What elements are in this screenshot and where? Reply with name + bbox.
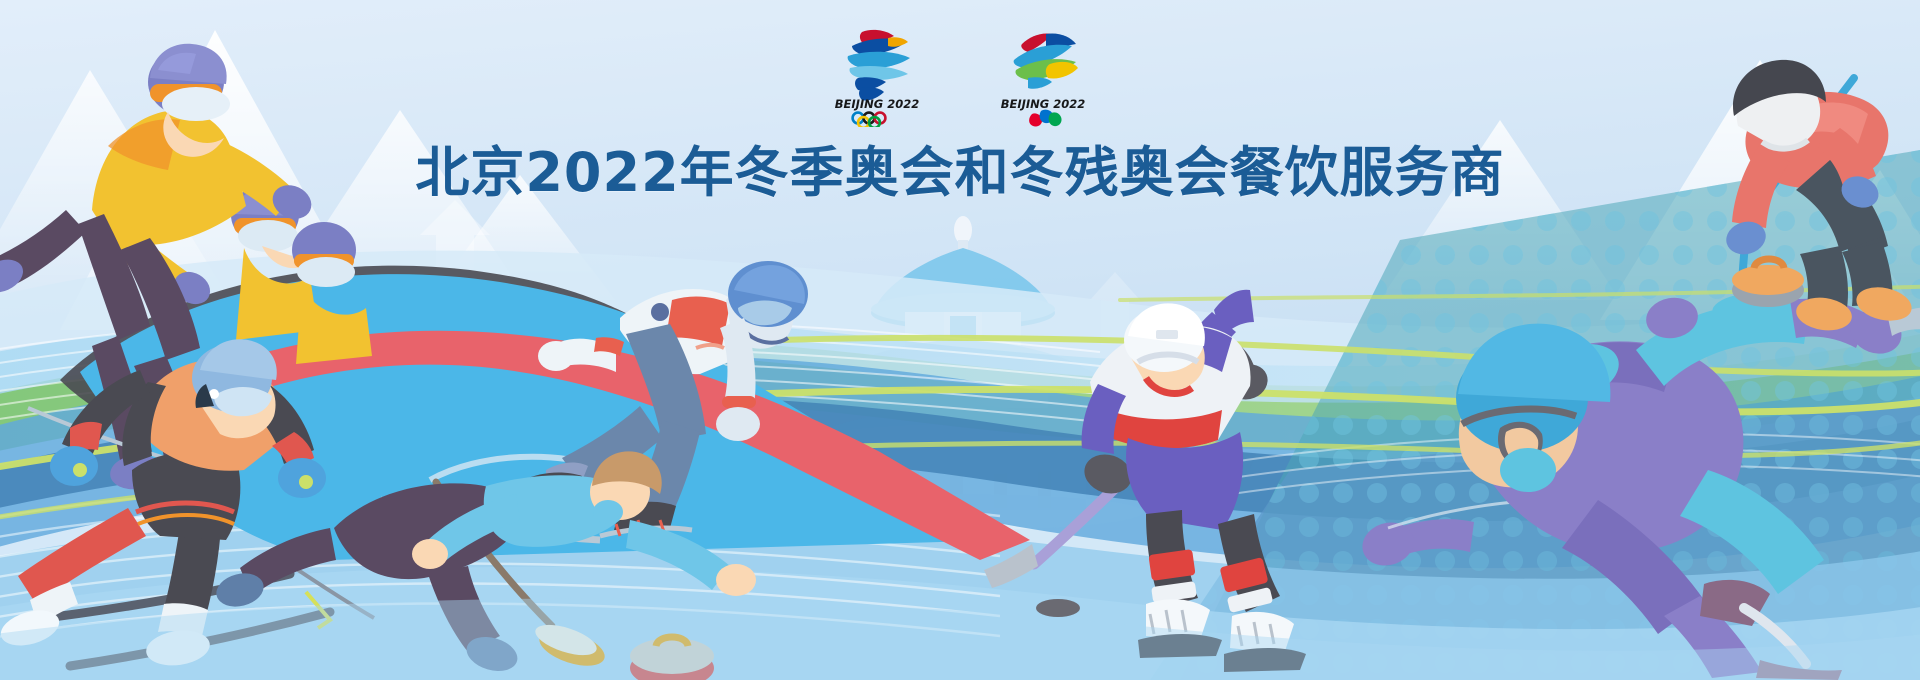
speed-skater-right xyxy=(1357,299,1920,680)
olympic-rings xyxy=(853,113,886,127)
glove xyxy=(50,446,98,486)
paralympic-ribbon-mark xyxy=(1014,33,1078,88)
glove xyxy=(538,341,574,371)
olympic-ribbon-mark xyxy=(848,30,910,101)
hand xyxy=(412,539,448,569)
goggles xyxy=(297,257,355,287)
glove xyxy=(716,407,760,441)
agitos-symbol xyxy=(1029,110,1061,127)
beijing-2022-paralympic-emblem: BEIJING 2022 xyxy=(988,22,1098,127)
beijing-2022-olympic-emblem: BEIJING 2022 xyxy=(822,22,932,127)
goggles xyxy=(238,220,298,252)
paralympic-wordmark: BEIJING 2022 xyxy=(1001,97,1086,111)
ice-hockey-player xyxy=(984,290,1306,672)
olympic-banner: BEIJING 2022 xyxy=(0,0,1920,680)
emblems-row: BEIJING 2022 xyxy=(0,22,1920,127)
hand xyxy=(716,564,756,596)
olympic-wordmark: BEIJING 2022 xyxy=(835,97,920,111)
page-title: 北京2022年冬季奥会和冬残奥会餐饮服务商 xyxy=(0,128,1920,207)
neck-collar xyxy=(1500,448,1556,492)
leg-red xyxy=(18,508,146,604)
hockey-puck xyxy=(1036,599,1080,617)
foreground-wave xyxy=(0,598,1920,680)
